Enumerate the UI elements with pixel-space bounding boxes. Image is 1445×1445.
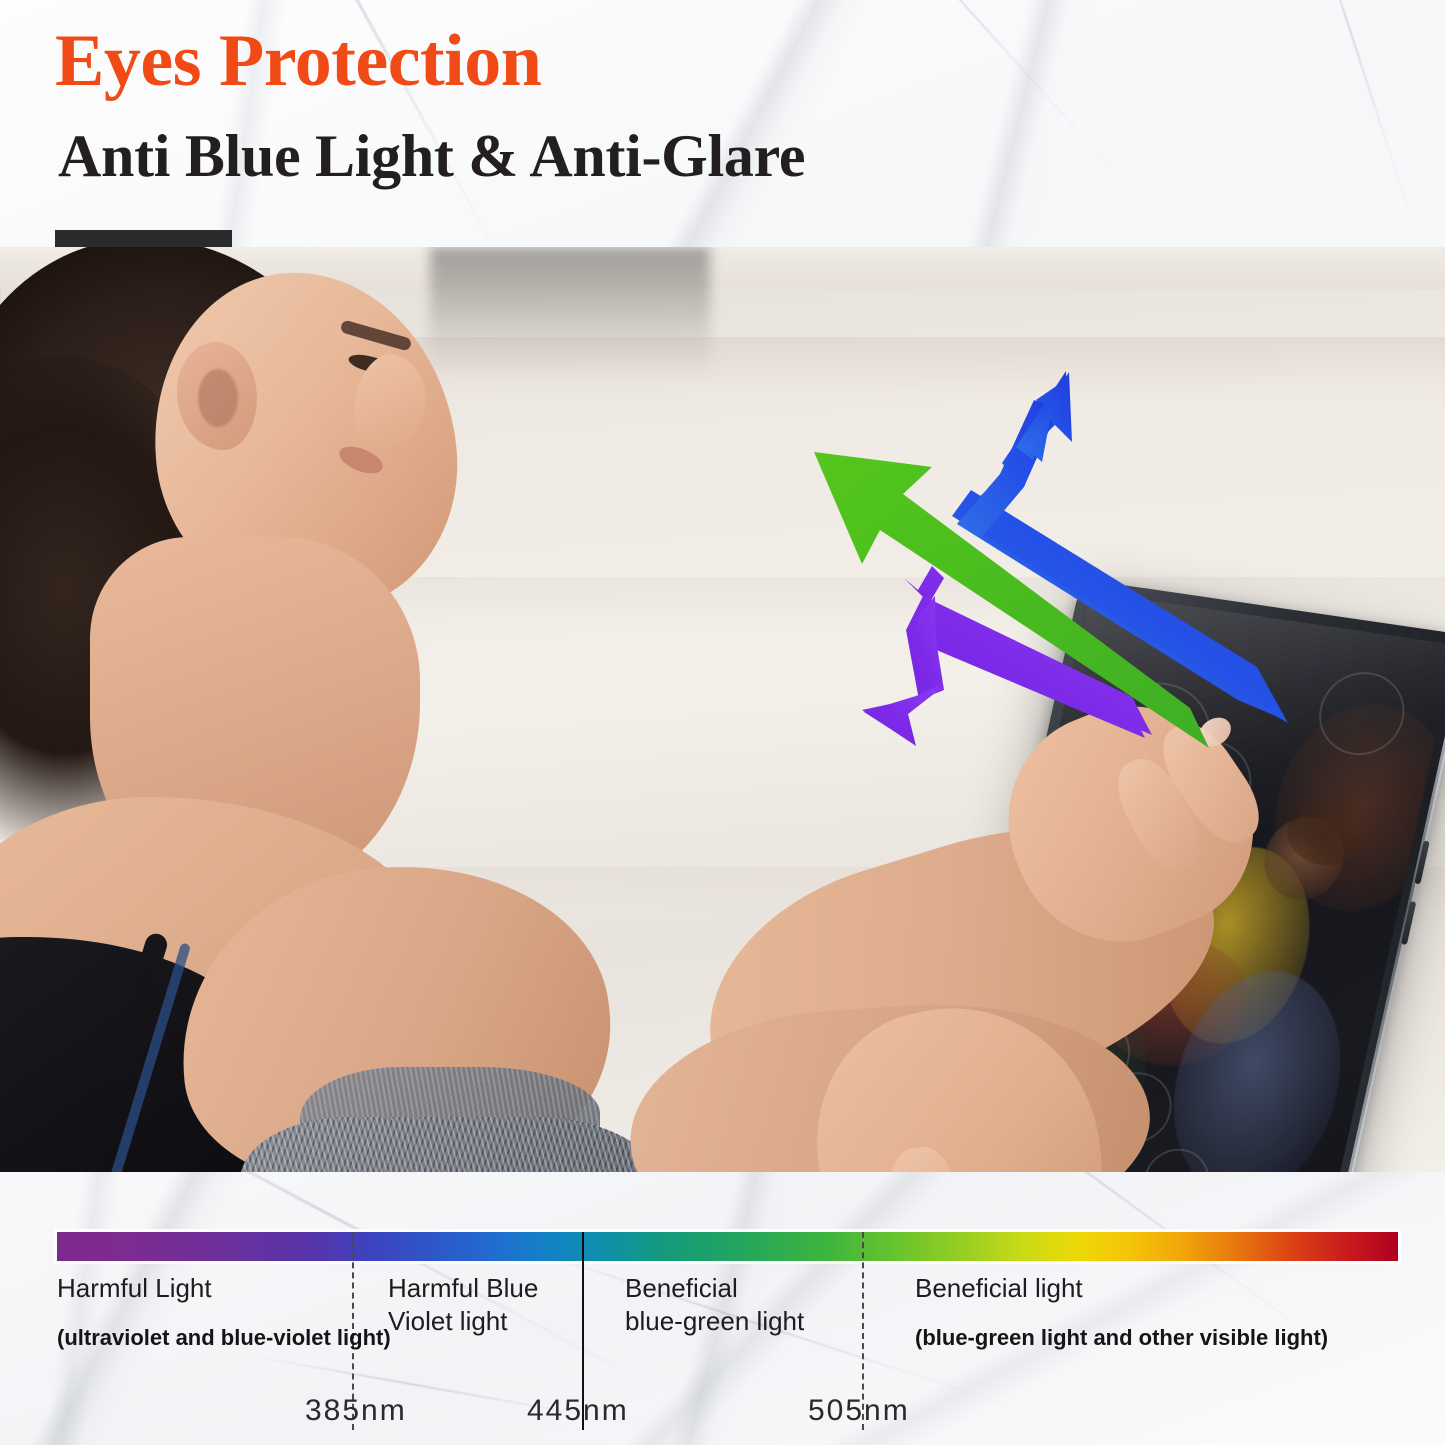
page-subtitle: Anti Blue Light & Anti-Glare <box>58 126 805 186</box>
ear-inner <box>198 369 238 427</box>
legend-subtitle: (ultraviolet and blue-violet light) <box>57 1324 391 1352</box>
mark-445nm: 445nm <box>527 1394 629 1428</box>
legend-beneficial-light: Beneficial light (blue-green light and o… <box>915 1272 1328 1352</box>
mark-505nm: 505nm <box>808 1394 910 1428</box>
header-accent-bar <box>55 230 232 247</box>
legend-harmful-blue-violet: Harmful Blue Violet light <box>388 1272 538 1339</box>
hero-photo <box>0 247 1445 1172</box>
legend-title: Beneficial blue-green light <box>625 1272 804 1339</box>
legend-harmful-light: Harmful Light (ultraviolet and blue-viol… <box>57 1272 391 1352</box>
header: Eyes Protection Anti Blue Light & Anti-G… <box>0 0 1445 247</box>
mark-385nm: 385nm <box>305 1394 407 1428</box>
product-infographic: Eyes Protection Anti Blue Light & Anti-G… <box>0 0 1445 1445</box>
page-title: Eyes Protection <box>55 24 541 98</box>
legend-title: Harmful Blue Violet light <box>388 1272 538 1339</box>
legend-title: Beneficial light <box>915 1272 1328 1305</box>
hands-holding-tablet <box>700 677 1320 1172</box>
legend-beneficial-blue-green: Beneficial blue-green light <box>625 1272 804 1339</box>
legend-title: Harmful Light <box>57 1272 391 1305</box>
spectrum-chart: Harmful Light (ultraviolet and blue-viol… <box>0 1172 1445 1445</box>
legend-subtitle: (blue-green light and other visible ligh… <box>915 1324 1328 1352</box>
leggings <box>240 1117 660 1172</box>
spectrum-gradient-bar <box>57 1232 1398 1261</box>
